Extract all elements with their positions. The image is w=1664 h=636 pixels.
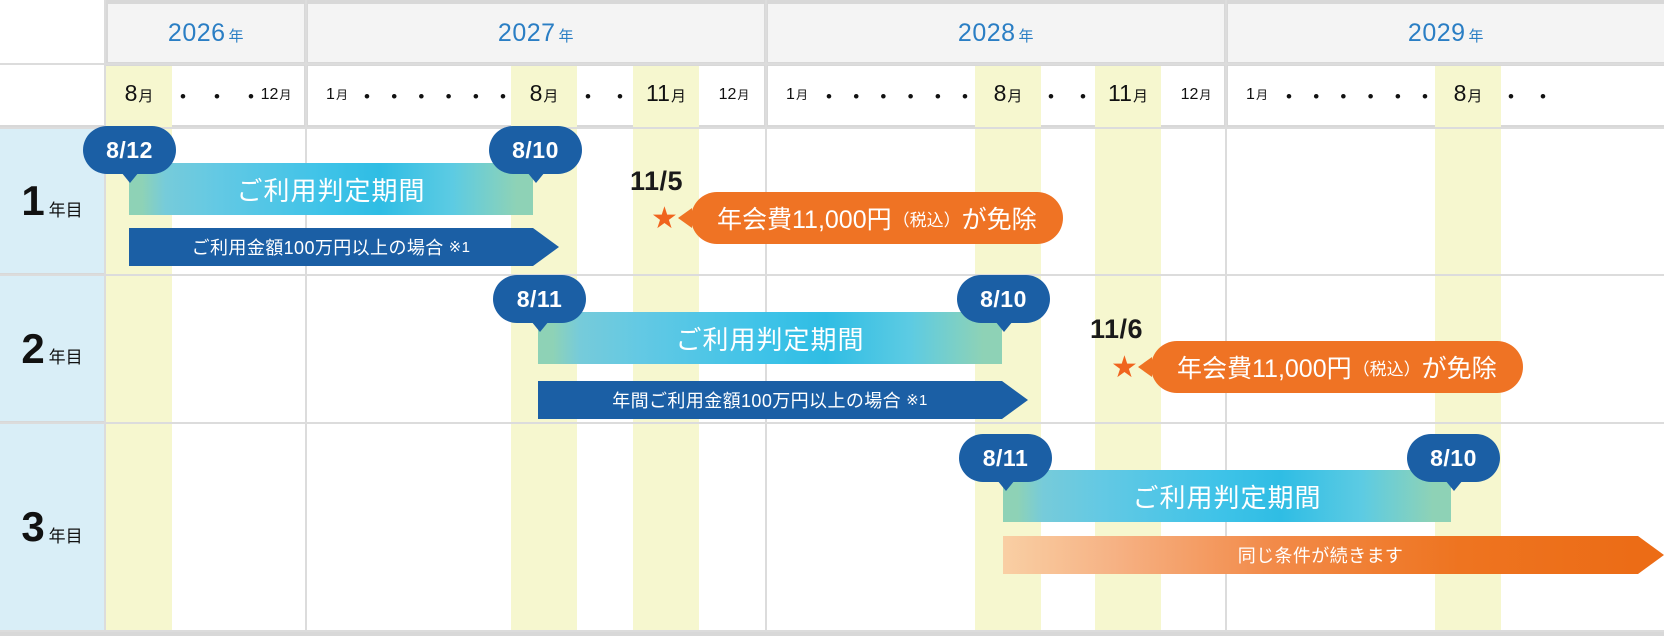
month-unit: 月	[737, 86, 749, 103]
row-number: 2	[21, 328, 44, 370]
month-dots-2029-a: ••••••	[1286, 88, 1428, 105]
condition-label: 年間ご利用金額100万円以上の場合	[612, 387, 901, 413]
row-number: 3	[21, 506, 44, 548]
month-number: 1	[1246, 86, 1255, 104]
star-glyph: ★	[651, 202, 678, 235]
condition-label: ご利用金額100万円以上の場合	[192, 234, 444, 260]
bubble-date: 8/10	[980, 286, 1027, 313]
callout-tax: （税込）	[893, 206, 961, 231]
row-separator-bottom	[0, 630, 1664, 632]
year-separator-2026-2027	[305, 0, 307, 631]
row-band-white-b	[577, 129, 633, 630]
star-glyph: ★	[1111, 351, 1138, 384]
row-suffix: 年目	[49, 196, 83, 221]
continue-label: 同じ条件が続きます	[1238, 542, 1404, 568]
callout-post: が免除	[1422, 349, 1497, 385]
year-suffix: 年	[1469, 25, 1485, 46]
month-unit: 月	[1467, 85, 1482, 106]
year-label: 2029	[1408, 19, 1466, 48]
row3-end-bubble[interactable]: 8/10	[1407, 434, 1500, 482]
bubble-date: 8/10	[1430, 445, 1477, 472]
row2-end-bubble[interactable]: 8/10	[957, 275, 1050, 323]
row-label-year-3: 3年目	[0, 424, 104, 630]
bubble-date: 8/11	[517, 286, 563, 313]
month-unit: 月	[1133, 85, 1148, 106]
callout-pre: 年会費11,000円	[717, 200, 892, 236]
month-unit: 月	[1007, 85, 1022, 106]
row2-star-icon: ★	[1111, 353, 1138, 383]
callout-pre: 年会費11,000円	[1177, 349, 1352, 385]
month-label-2027-11: 11月	[633, 80, 699, 107]
condition-note: ※1	[906, 391, 928, 409]
date-mark-text: 11/5	[630, 166, 683, 196]
row-label-year-2: 2年目	[0, 276, 104, 421]
row-suffix: 年目	[49, 522, 83, 547]
month-dots-2029-b: ••	[1508, 88, 1546, 105]
month-label-2029-08: 8月	[1435, 80, 1501, 107]
row1-start-bubble[interactable]: 8/12	[83, 126, 176, 174]
year-suffix: 年	[229, 25, 245, 46]
month-number: 12	[261, 86, 279, 104]
row3-start-bubble[interactable]: 8/11	[959, 434, 1052, 482]
row2-start-bubble[interactable]: 8/11	[493, 275, 586, 323]
month-number: 1	[786, 86, 795, 104]
month-dots-2027-b: ••	[585, 88, 623, 105]
month-number: 1	[326, 86, 335, 104]
bubble-date: 8/10	[512, 137, 559, 164]
month-label-2028-12: 12月	[1168, 86, 1224, 104]
month-number: 8	[530, 80, 543, 107]
row2-period-bar: ご利用判定期間	[538, 312, 1002, 364]
row-separator-3	[0, 422, 1664, 424]
month-label-2026-08: 8月	[106, 80, 172, 107]
row2-condition-bar: 年間ご利用金額100万円以上の場合※1	[538, 381, 1002, 419]
month-unit: 月	[138, 85, 153, 106]
month-label-2028-08: 8月	[975, 80, 1041, 107]
callout-tax: （税込）	[1353, 355, 1421, 380]
row-separator-1	[0, 127, 1664, 129]
row1-condition-bar: ご利用金額100万円以上の場合※1	[129, 228, 533, 266]
month-number: 12	[719, 86, 737, 104]
row1-fee-waived-callout: 年会費11,000円（税込）が免除	[691, 192, 1063, 244]
month-number: 11	[646, 80, 670, 107]
year-separator-start	[104, 0, 106, 631]
month-number: 12	[1181, 86, 1199, 104]
row1-end-bubble[interactable]: 8/10	[489, 126, 582, 174]
month-number: 11	[1108, 80, 1132, 107]
row-number: 1	[21, 180, 44, 222]
month-unit: 月	[336, 86, 348, 103]
bubble-date: 8/12	[106, 137, 153, 164]
month-label-2027-01: 1月	[312, 86, 362, 104]
month-unit: 月	[543, 85, 558, 106]
year-header-2028: 2028年	[768, 4, 1224, 62]
year-header-2029: 2029年	[1228, 4, 1664, 62]
row1-star-icon: ★	[651, 204, 678, 234]
year-header-2026: 2026年	[108, 4, 304, 62]
row2-date-mark: 11/6	[1090, 314, 1143, 345]
month-label-2027-12: 12月	[706, 86, 762, 104]
month-label-2028-01: 1月	[772, 86, 822, 104]
period-label: ご利用判定期間	[236, 171, 425, 208]
month-dots-2028-b: ••	[1048, 88, 1086, 105]
month-label-2027-08: 8月	[511, 80, 577, 107]
row1-period-bar: ご利用判定期間	[129, 163, 533, 215]
date-mark-text: 11/6	[1090, 314, 1143, 344]
year-label: 2028	[958, 19, 1016, 48]
timeline-diagram: 2026年 2027年 2028年 2029年 8月 ••• 12月 1月 ••…	[0, 0, 1664, 636]
year-header-2027: 2027年	[308, 4, 764, 62]
year-label: 2026	[168, 19, 226, 48]
month-dots-2027-a: ••••••	[364, 88, 506, 105]
condition-note: ※1	[449, 238, 471, 256]
year-suffix: 年	[1019, 25, 1035, 46]
year-label: 2027	[498, 19, 556, 48]
month-unit: 月	[671, 85, 686, 106]
row-suffix: 年目	[49, 343, 83, 368]
row3-period-bar: ご利用判定期間	[1003, 470, 1451, 522]
month-label-2029-01: 1月	[1232, 86, 1282, 104]
month-number: 8	[994, 80, 1007, 107]
month-unit: 月	[279, 86, 291, 103]
month-dots-2028-a: ••••••	[826, 88, 968, 105]
row2-fee-waived-callout: 年会費11,000円（税込）が免除	[1151, 341, 1523, 393]
period-label: ご利用判定期間	[1132, 478, 1321, 515]
row-separator-2	[0, 274, 1664, 276]
row3-continue-bar: 同じ条件が続きます	[1003, 536, 1638, 574]
month-label-2028-11: 11月	[1095, 80, 1161, 107]
header-separator	[0, 63, 1664, 65]
row1-date-mark: 11/5	[630, 166, 683, 197]
month-unit: 月	[1199, 86, 1211, 103]
month-label-2026-12: 12月	[248, 86, 304, 104]
callout-post: が免除	[962, 200, 1037, 236]
year-suffix: 年	[559, 25, 575, 46]
month-number: 8	[125, 80, 138, 107]
bubble-date: 8/11	[983, 445, 1029, 472]
month-unit: 月	[796, 86, 808, 103]
month-dots-2026: •••	[180, 88, 254, 105]
month-number: 8	[1454, 80, 1467, 107]
month-unit: 月	[1256, 86, 1268, 103]
period-label: ご利用判定期間	[675, 320, 864, 357]
